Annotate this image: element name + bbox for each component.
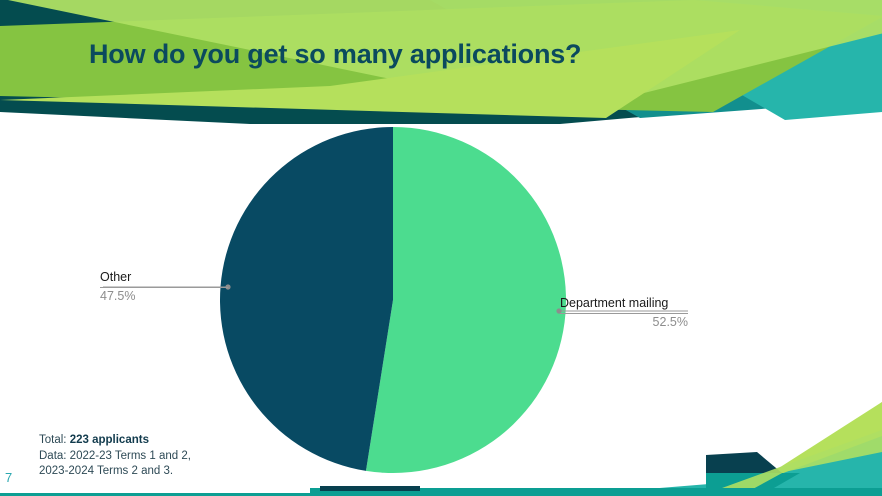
pie-label-other-value: 47.5% [100,289,228,304]
footer-shape-bottom-strip-white [0,488,310,493]
footnote-total-label: Total: [39,434,67,446]
footnote-total-line: Total: 223 applicants [39,433,191,449]
pie-label-department-mailing-value: 52.5% [560,315,688,330]
chart-footnote: Total: 223 applicants Data: 2022-23 Term… [39,433,191,480]
page-title: How do you get so many applications? [89,39,581,70]
pie-label-other-name: Other [100,270,228,285]
slide: How do you get so many applications? Oth… [0,0,882,496]
footer-shape-dark-navy [706,452,782,473]
pie-label-department-mailing-rule [560,313,688,314]
footnote-data-line-1: Data: 2022-23 Terms 1 and 2, [39,449,191,465]
footer-decoration [0,0,882,496]
footnote-total-value: 223 applicants [70,434,149,446]
pie-label-other-rule [100,287,228,288]
footnote-data-line-2: 2023-2024 Terms 2 and 3. [39,464,191,480]
pie-label-other: Other 47.5% [100,270,228,304]
footer-shape-bottom-dark [320,486,420,491]
pie-label-department-mailing-name: Department mailing [560,296,688,311]
page-number: 7 [5,470,12,485]
pie-label-department-mailing: Department mailing 52.5% [560,296,688,330]
